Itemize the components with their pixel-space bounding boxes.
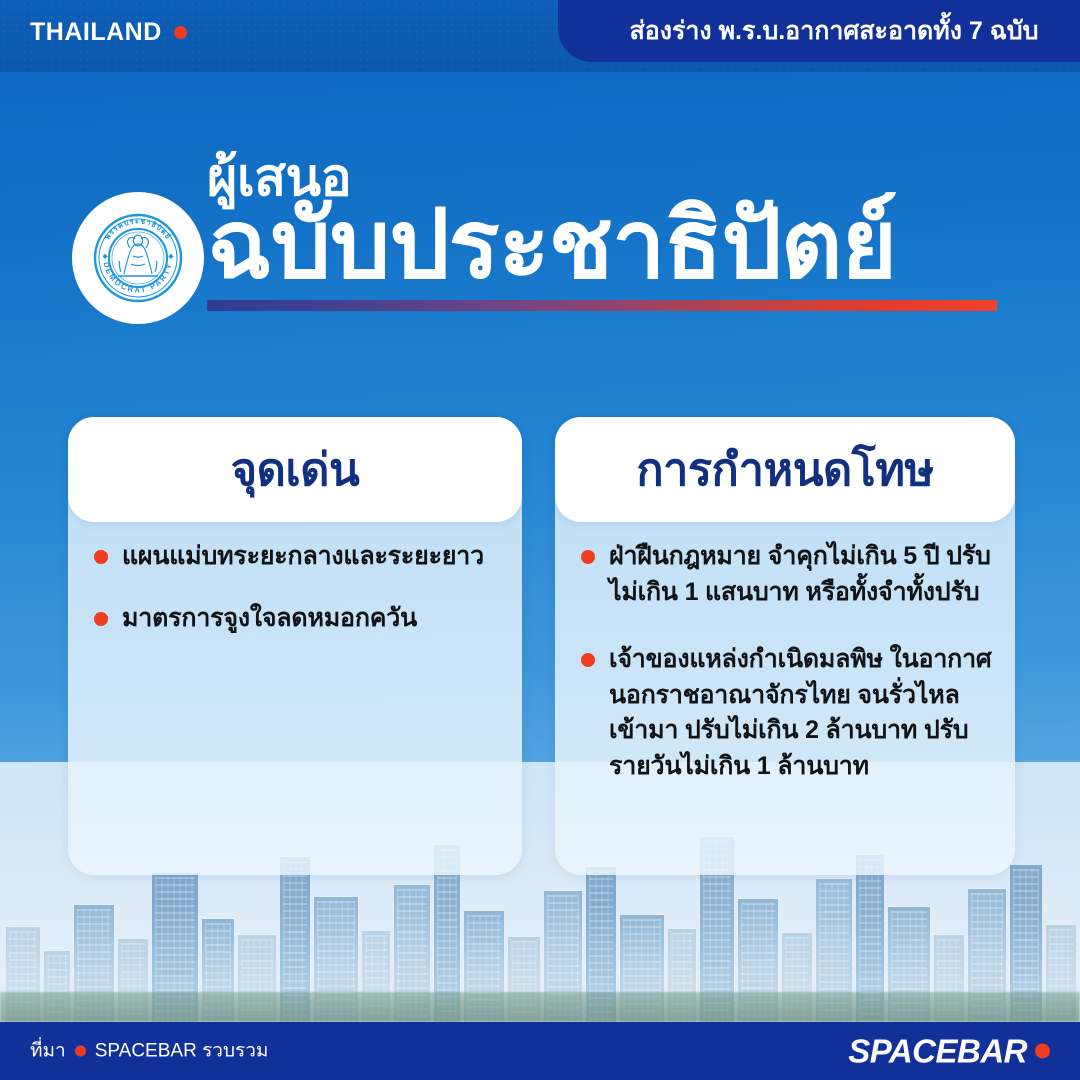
city-treeline: [0, 992, 1080, 1022]
democrat-party-emblem-icon: พรรคประชาธิปัตย์ DEMOCRAT PARTY: [84, 204, 192, 312]
card-penalties-header: การกำหนดโทษ: [555, 417, 1015, 522]
title-block: ผู้เสนอ ฉบับประชาธิปัตย์: [207, 155, 1017, 311]
list-item-text: แผนแม่บทระยะกลางและระยะยาว: [122, 539, 484, 575]
bullet-dot-icon: [581, 653, 595, 667]
list-item: ฝ่าฝืนกฎหมาย จำคุกไม่เกิน 5 ปี ปรับไม่เก…: [581, 539, 997, 610]
card-penalties-title: การกำหนดโทษ: [636, 447, 933, 492]
card-penalties: การกำหนดโทษ ฝ่าฝืนกฎหมาย จำคุกไม่เกิน 5 …: [555, 417, 1015, 875]
brand-label: THAILAND: [30, 20, 162, 45]
footer-source-text: SPACEBAR รวบรวม: [95, 1042, 269, 1061]
card-highlights: จุดเด่น แผนแม่บทระยะกลางและระยะยาว มาตรก…: [68, 417, 522, 875]
footer-source-dot-icon: [75, 1046, 86, 1057]
footer-source-prefix: ที่มา: [30, 1042, 66, 1061]
infographic-canvas: THAILAND ส่องร่าง พ.ร.บ.อากาศสะอาดทั้ง 7…: [0, 0, 1080, 1080]
svg-text:DEMOCRAT PARTY: DEMOCRAT PARTY: [102, 261, 175, 294]
list-item-text: ฝ่าฝืนกฎหมาย จำคุกไม่เกิน 5 ปี ปรับไม่เก…: [609, 539, 997, 610]
spacebar-wordmark: SPACEBAR: [848, 1035, 1027, 1068]
title-underline-rule: [207, 300, 997, 311]
headline-banner: ส่องร่าง พ.ร.บ.อากาศสะอาดทั้ง 7 ฉบับ: [558, 0, 1080, 62]
spacebar-logo: SPACEBAR: [848, 1035, 1050, 1068]
list-item: มาตรการจูงใจลดหมอกควัน: [94, 601, 504, 637]
footer-source: ที่มา SPACEBAR รวบรวม: [30, 1042, 268, 1061]
list-item-text: เจ้าของแหล่งกำเนิดมลพิษ ในอากาศนอกราชอาณ…: [609, 642, 997, 784]
card-highlights-title: จุดเด่น: [231, 447, 359, 492]
title-main: ฉบับประชาธิปัตย์: [207, 197, 1017, 294]
bullet-dot-icon: [94, 612, 108, 626]
democrat-party-logo: พรรคประชาธิปัตย์ DEMOCRAT PARTY: [72, 192, 204, 324]
bullet-dot-icon: [94, 550, 108, 564]
brand-dot-icon: [174, 26, 187, 39]
card-highlights-bullets: แผนแม่บทระยะกลางและระยะยาว มาตรการจูงใจล…: [94, 539, 504, 662]
list-item: แผนแม่บทระยะกลางและระยะยาว: [94, 539, 504, 575]
list-item-text: มาตรการจูงใจลดหมอกควัน: [122, 601, 417, 637]
spacebar-dot-icon: [1035, 1044, 1050, 1059]
footer-bar: ที่มา SPACEBAR รวบรวม SPACEBAR: [0, 1022, 1080, 1080]
bullet-dot-icon: [581, 550, 595, 564]
list-item: เจ้าของแหล่งกำเนิดมลพิษ ในอากาศนอกราชอาณ…: [581, 642, 997, 784]
card-highlights-header: จุดเด่น: [68, 417, 522, 522]
card-penalties-bullets: ฝ่าฝืนกฎหมาย จำคุกไม่เกิน 5 ปี ปรับไม่เก…: [581, 539, 997, 816]
brand-thailand: THAILAND: [30, 20, 187, 45]
headline-text: ส่องร่าง พ.ร.บ.อากาศสะอาดทั้ง 7 ฉบับ: [629, 11, 1038, 51]
